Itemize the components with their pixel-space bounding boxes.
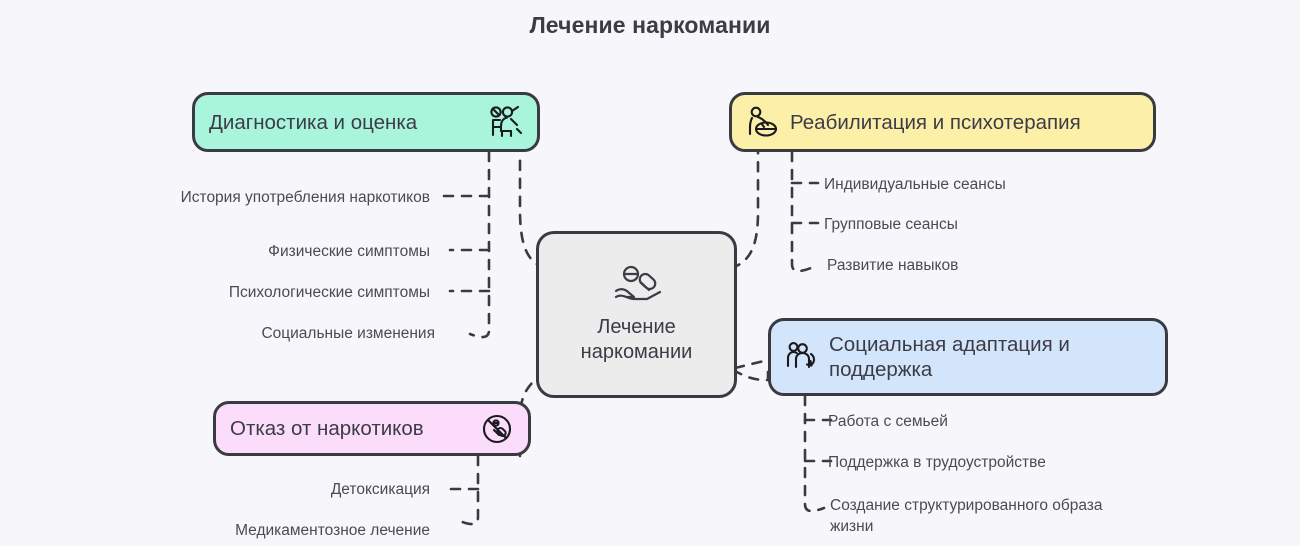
person-assessment-icon <box>489 105 523 139</box>
node-center[interactable]: Лечение наркомании <box>536 231 737 398</box>
leaf-social-0: Работа с семьей <box>828 411 1158 432</box>
leaf-rehabilitation-0: Индивидуальные сеансы <box>824 174 1154 195</box>
wire-center-social-2 <box>735 360 768 368</box>
therapy-session-icon <box>746 105 780 139</box>
leaf-social-2: Создание структурированного образа жизни <box>830 495 1150 538</box>
no-drugs-icon <box>480 412 514 446</box>
node-diagnostics[interactable]: Диагностика и оценка <box>192 92 540 152</box>
node-social-label: Социальная адаптация и поддержка <box>829 332 1070 382</box>
leaf-refusal-1: Медикаментозное лечение <box>150 520 430 541</box>
leaf-diagnostics-0: История употребления наркотиков <box>100 187 430 208</box>
node-diagnostics-label: Диагностика и оценка <box>209 110 417 135</box>
node-social[interactable]: Социальная адаптация и поддержка <box>768 318 1168 396</box>
leaf-diagnostics-2: Психологические симптомы <box>130 282 430 303</box>
people-arrow-icon <box>785 340 819 374</box>
wire-refusal-spine <box>460 456 478 524</box>
leaf-rehabilitation-1: Групповые сеансы <box>824 214 1154 235</box>
leaf-refusal-0: Детоксикация <box>170 479 430 500</box>
node-rehabilitation[interactable]: Реабилитация и психотерапия <box>729 92 1156 152</box>
leaf-diagnostics-3: Социальные изменения <box>150 323 435 344</box>
mindmap-canvas: Лечение наркомании Лечение наркомании Ди… <box>0 0 1300 546</box>
page-title: Лечение наркомании <box>0 12 1300 39</box>
leaf-diagnostics-1: Физические симптомы <box>130 241 430 262</box>
wire-diagnostics-spine <box>470 152 489 337</box>
node-refusal-label: Отказ от наркотиков <box>230 416 424 441</box>
node-refusal[interactable]: Отказ от наркотиков <box>213 401 531 456</box>
leaf-rehabilitation-2: Развитие навыков <box>827 255 1157 276</box>
wire-social-spine <box>805 396 824 511</box>
hand-holding-pills-icon <box>610 265 664 305</box>
node-rehabilitation-label: Реабилитация и психотерапия <box>790 110 1081 135</box>
node-center-label: Лечение наркомании <box>581 315 693 365</box>
wire-center-social <box>733 370 768 380</box>
wire-rehabilitation-spine <box>792 152 811 271</box>
leaf-social-1: Поддержка в трудоустройстве <box>828 452 1158 473</box>
